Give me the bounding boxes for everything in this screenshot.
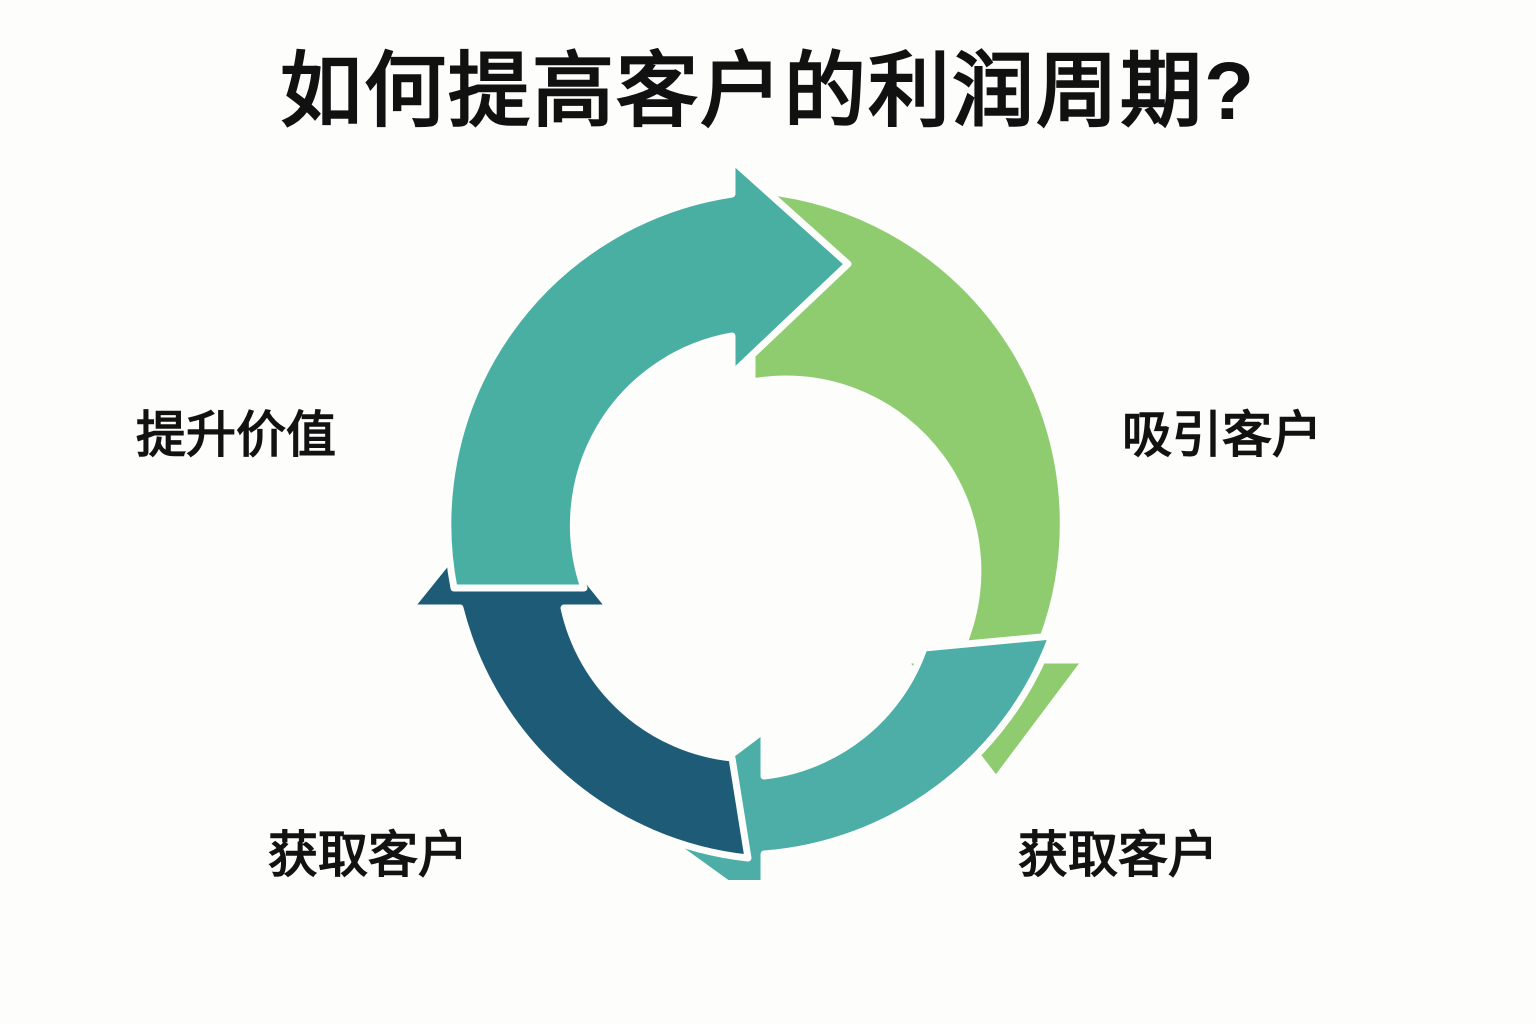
cycle-diagram-svg bbox=[396, 168, 1108, 880]
cycle-label-enhance-value: 提升价值 bbox=[136, 406, 336, 464]
slide-canvas: 如何提高客户的利润周期? bbox=[0, 0, 1536, 1024]
cycle-label-acquire-customers-left: 获取客户 bbox=[268, 826, 468, 884]
cycle-arrow-group bbox=[410, 168, 1086, 880]
cycle-label-acquire-customers-right: 获取客户 bbox=[1018, 826, 1218, 884]
cycle-diagram: 提升价值 吸引客户 获取客户 获取客户 bbox=[0, 0, 1536, 1024]
cycle-label-attract-customers: 吸引客户 bbox=[1122, 406, 1322, 464]
